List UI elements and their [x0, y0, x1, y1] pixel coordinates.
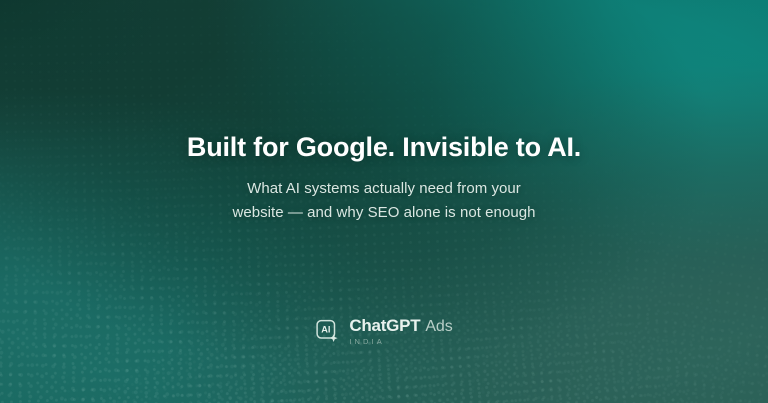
hero-banner: Built for Google. Invisible to AI. What …	[0, 0, 768, 403]
brand-logo: AI ChatGPT Ads INDIA	[0, 317, 768, 347]
brand-wordmark-row: ChatGPT Ads	[349, 317, 452, 335]
hero-content: Built for Google. Invisible to AI. What …	[0, 0, 768, 403]
ai-sparkle-icon: AI	[315, 319, 340, 344]
hero-subtitle-line-1: What AI systems actually need from your	[0, 177, 768, 201]
svg-text:AI: AI	[322, 325, 331, 335]
brand-name-secondary: Ads	[425, 319, 452, 335]
hero-subtitle-line-2: website — and why SEO alone is not enoug…	[0, 201, 768, 225]
brand-wordmark: ChatGPT Ads INDIA	[349, 317, 452, 347]
brand-region-label: INDIA	[349, 338, 452, 346]
hero-subtitle: What AI systems actually need from your …	[0, 177, 768, 225]
brand-name-primary: ChatGPT	[349, 317, 420, 334]
page-title: Built for Google. Invisible to AI.	[0, 131, 768, 163]
